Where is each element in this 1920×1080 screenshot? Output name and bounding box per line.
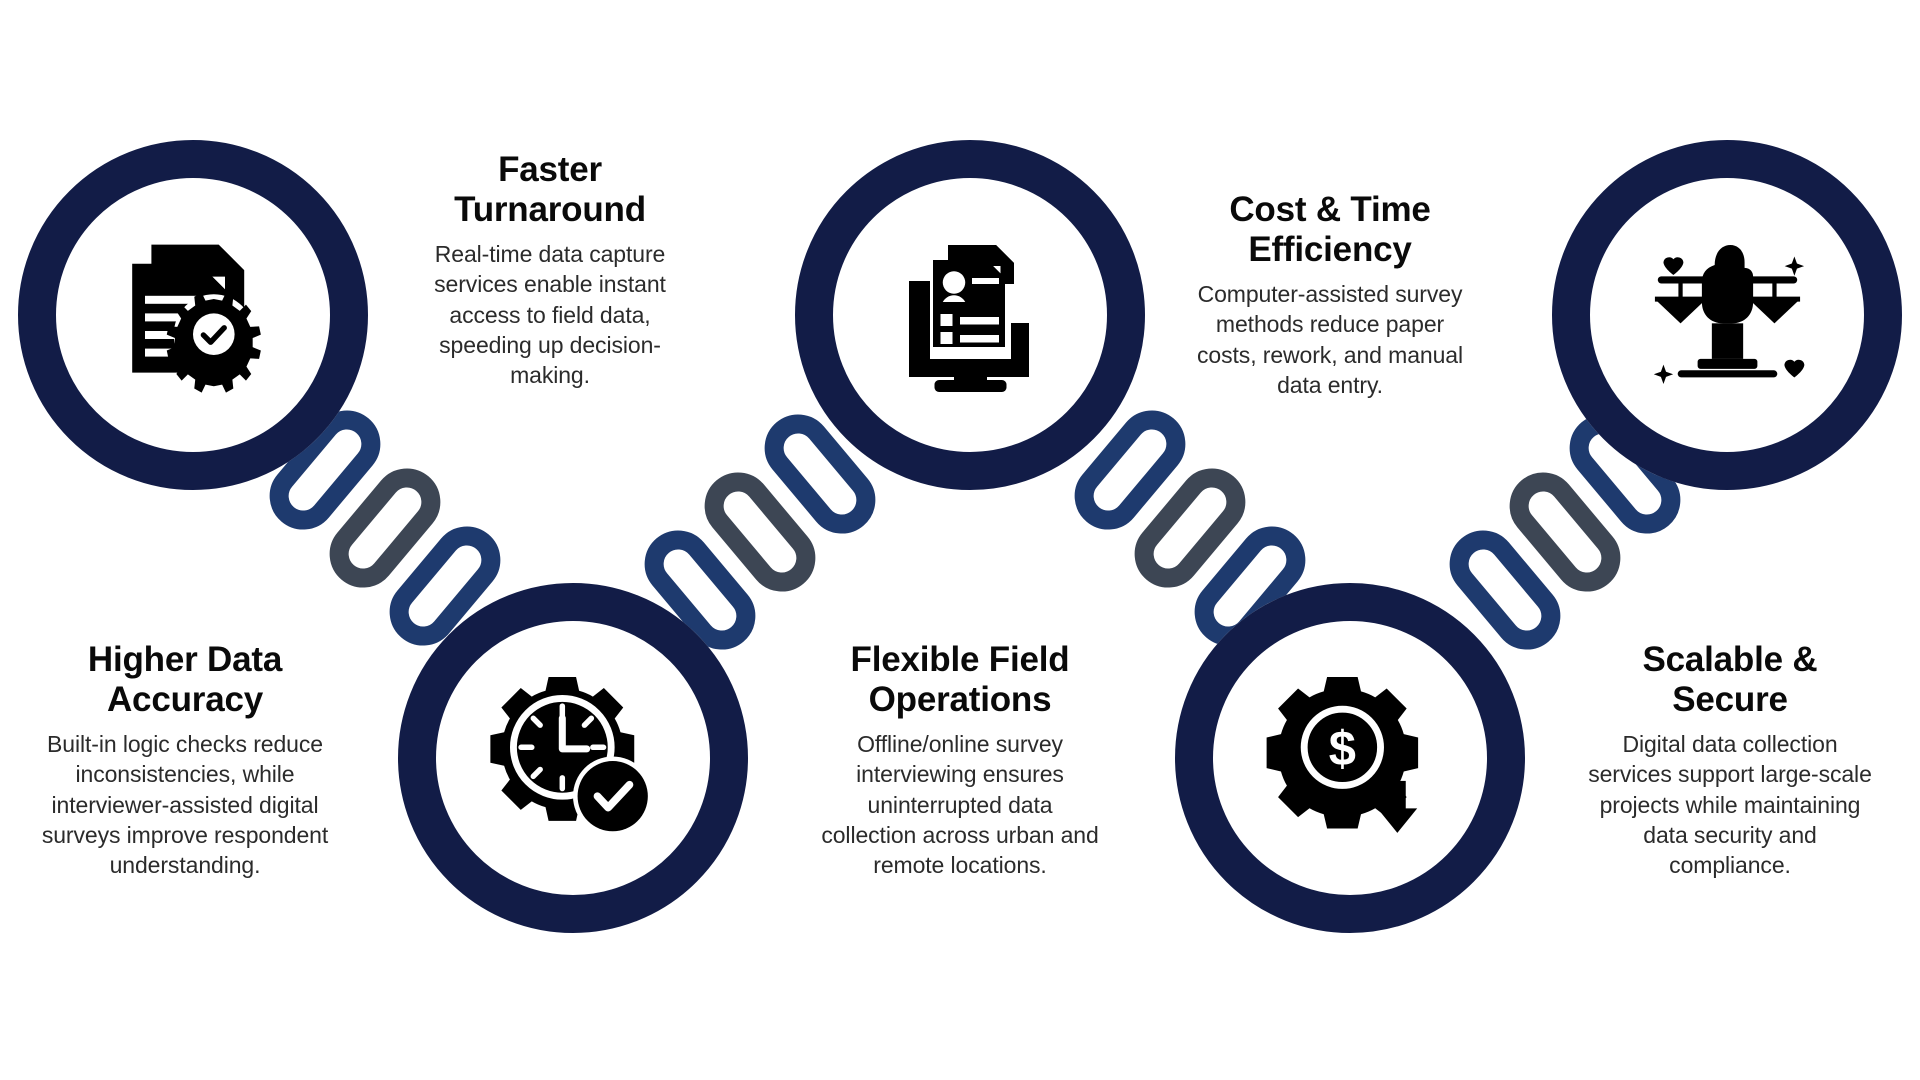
node-higher-data-accuracy[interactable]: [18, 140, 368, 490]
document-gear-check-icon: [113, 235, 273, 395]
heading-scalable-secure: Scalable & Secure: [1580, 640, 1880, 720]
node-flexible-field-operations[interactable]: [398, 583, 748, 933]
textblock-faster-turnaround: Faster Turnaround Real-time data capture…: [400, 150, 700, 391]
heading-cost-time-efficiency: Cost & Time Efficiency: [1185, 190, 1475, 270]
textblock-flexible-field-operations: Flexible Field Operations Offline/online…: [820, 640, 1100, 881]
node-faster-turnaround[interactable]: [795, 140, 1145, 490]
textblock-cost-time-efficiency: Cost & Time Efficiency Computer-assisted…: [1185, 190, 1475, 400]
infographic-canvas: Faster Turnaround Real-time data capture…: [0, 0, 1920, 1080]
body-faster-turnaround: Real-time data capture services enable i…: [400, 239, 700, 391]
body-cost-time-efficiency: Computer-assisted survey methods reduce …: [1185, 279, 1475, 400]
heading-flexible-field-operations: Flexible Field Operations: [820, 640, 1100, 720]
gear-dollar-arrow-icon: $: [1266, 674, 1434, 842]
survey-form-monitor-icon: [888, 233, 1053, 398]
textblock-higher-data-accuracy: Higher Data Accuracy Built-in logic chec…: [35, 640, 335, 881]
svg-text:$: $: [1329, 723, 1356, 777]
body-higher-data-accuracy: Built-in logic checks reduce inconsisten…: [35, 729, 335, 881]
body-flexible-field-operations: Offline/online survey interviewing ensur…: [820, 729, 1100, 881]
node-cost-time-efficiency[interactable]: $: [1175, 583, 1525, 933]
chain-run-2: [644, 414, 875, 650]
heading-faster-turnaround: Faster Turnaround: [400, 150, 700, 230]
heading-higher-data-accuracy: Higher Data Accuracy: [35, 640, 335, 720]
textblock-scalable-secure: Scalable & Secure Digital data collectio…: [1580, 640, 1880, 881]
justice-scales-fist-icon: [1635, 233, 1820, 398]
body-scalable-secure: Digital data collection services support…: [1580, 729, 1880, 881]
node-scalable-secure[interactable]: [1552, 140, 1902, 490]
gear-clock-check-icon: [489, 674, 657, 842]
